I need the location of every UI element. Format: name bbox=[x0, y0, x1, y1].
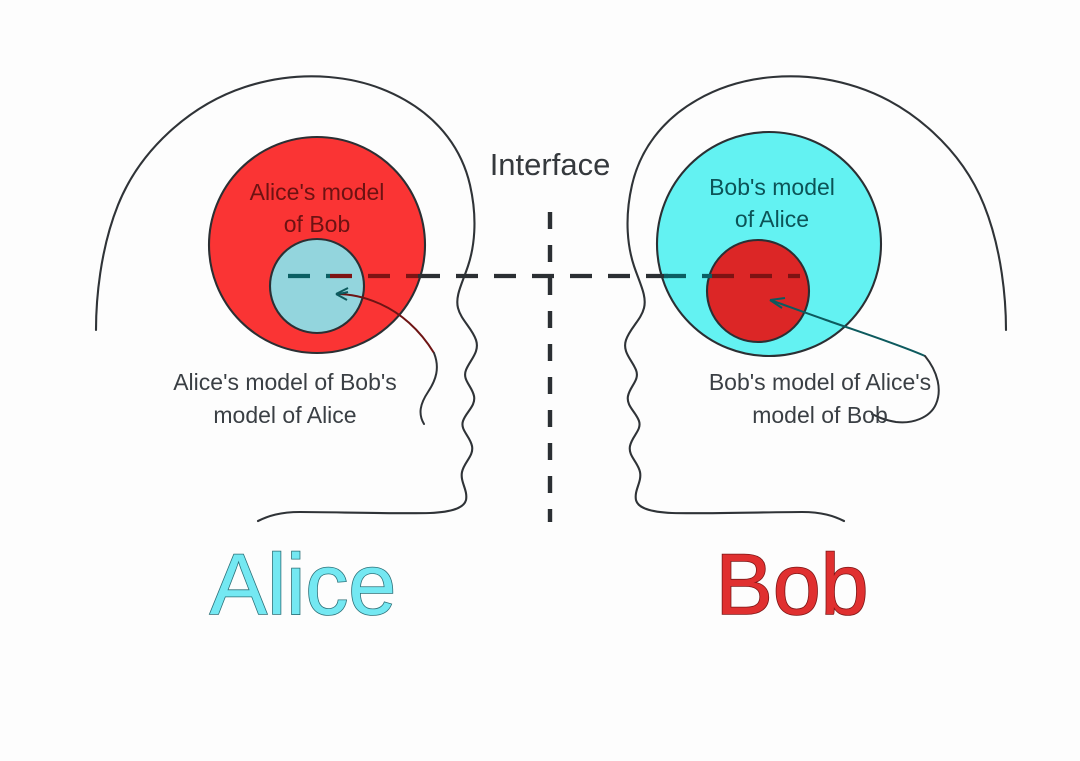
alice-circle-label-line2: of Bob bbox=[284, 211, 351, 237]
interface-label: Interface bbox=[490, 147, 611, 182]
diagram-canvas: Alice's model of Bob Bob's model of Alic… bbox=[0, 0, 1080, 761]
theory-of-mind-diagram: Alice's model of Bob Bob's model of Alic… bbox=[0, 0, 1080, 761]
alice-name-label: Alice bbox=[210, 537, 396, 633]
bob-circle-label-line2: of Alice bbox=[735, 206, 809, 232]
alice-model-of-bobs-model-circle bbox=[270, 239, 364, 333]
right-caption-line1: Bob's model of Alice's bbox=[709, 369, 931, 395]
left-caption-line1: Alice's model of Bob's bbox=[173, 369, 397, 395]
bob-name-label: Bob bbox=[715, 537, 868, 633]
bob-circle-label-line1: Bob's model bbox=[709, 174, 835, 200]
left-caption-line2: model of Alice bbox=[213, 402, 356, 428]
bob-model-of-alices-model-circle bbox=[707, 240, 809, 342]
left-caption-connector bbox=[421, 353, 437, 424]
alice-circle-label-line1: Alice's model bbox=[250, 179, 385, 205]
right-caption-line2: model of Bob bbox=[752, 402, 888, 428]
